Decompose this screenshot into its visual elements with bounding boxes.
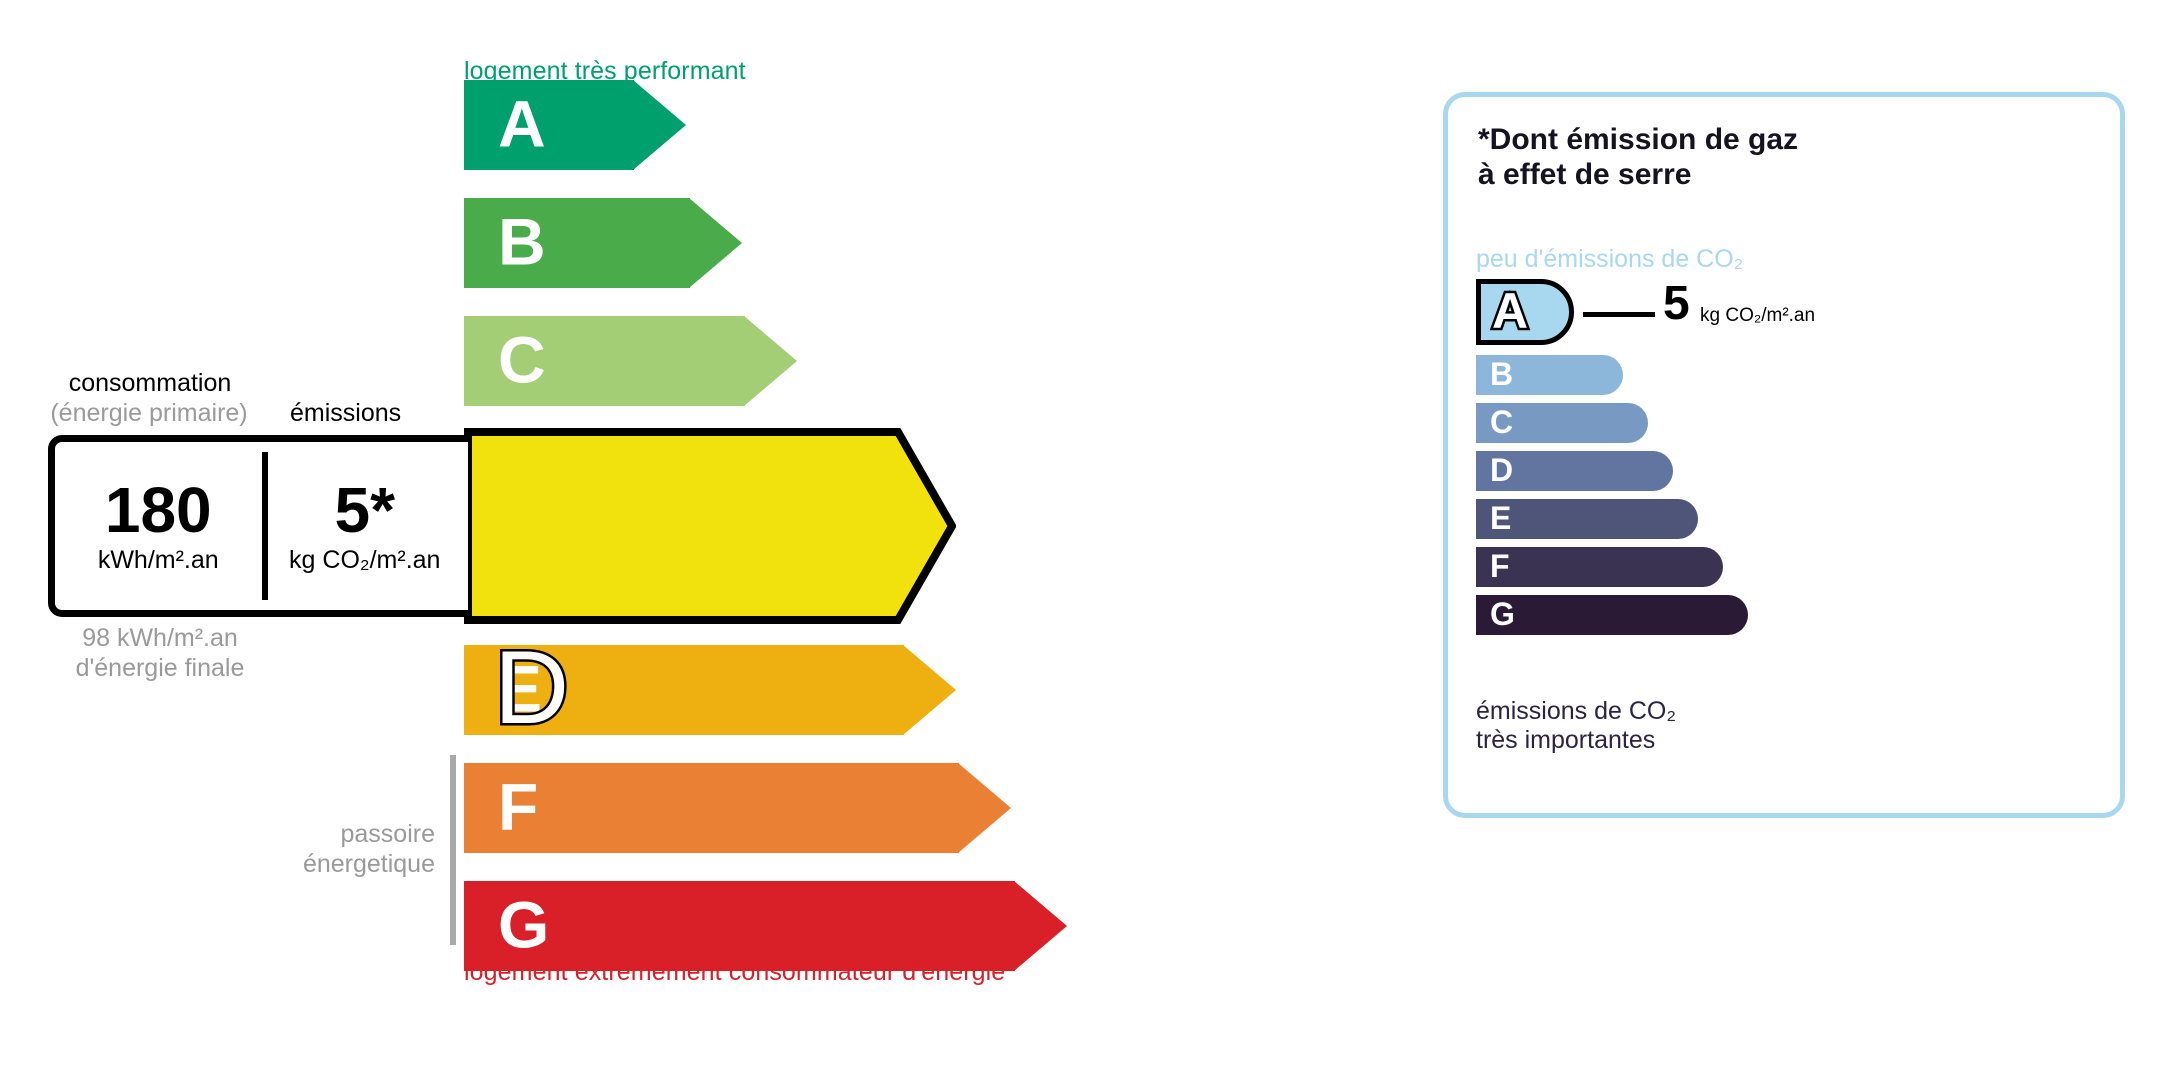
arrow-tip — [1014, 881, 1067, 971]
energy-arrow-c: C — [464, 316, 797, 406]
energy-class-row-f[interactable]: F — [464, 763, 1011, 853]
energy-class-letter: D — [494, 629, 569, 748]
co2-class-row-f[interactable]: F — [1476, 547, 1723, 587]
co2-class-row-g[interactable]: G — [1476, 595, 1748, 635]
scale-caption-bottom: logement extrêmement consommateur d'éner… — [464, 958, 1005, 987]
arrow-tip — [958, 763, 1011, 853]
co2-bar-e: E — [1476, 499, 1698, 539]
energy-class-letter: G — [498, 892, 549, 958]
co2-panel-value-unit: kg CO₂/m².an — [1700, 305, 1815, 327]
co2-leader-line — [1583, 312, 1655, 317]
energy-class-row-b[interactable]: B — [464, 198, 742, 288]
energy-arrow-f: F — [464, 763, 1011, 853]
co2-panel-value: 5 — [1663, 280, 1690, 328]
energy-arrow-a: A — [464, 80, 686, 170]
co2-class-badge-a-current[interactable]: A — [1476, 279, 1574, 345]
energy-value: 180 — [105, 478, 212, 542]
co2-bar-g: G — [1476, 595, 1748, 635]
co2-class-row-d[interactable]: D — [1476, 451, 1673, 491]
co2-class-row-e[interactable]: E — [1476, 499, 1698, 539]
co2-bar-c: C — [1476, 403, 1648, 443]
energy-class-letter: B — [498, 209, 546, 275]
arrow-tip — [744, 316, 797, 406]
energy-class-letter: C — [498, 327, 546, 393]
co2-value: 5* — [335, 478, 396, 542]
energy-class-row-d-current[interactable]: D — [464, 428, 956, 624]
energy-class-letter: A — [498, 91, 546, 157]
co2-class-letter: E — [1490, 502, 1511, 534]
dpe-diagram: logement très performant A B C — [0, 0, 2169, 1079]
label-emissions: émissions — [290, 399, 401, 428]
energy-unit: kWh/m².an — [98, 546, 219, 575]
energy-class-row-c[interactable]: C — [464, 316, 797, 406]
final-energy-note: 98 kWh/m².an d'énergie finale — [45, 624, 275, 683]
co2-class-letter: F — [1490, 550, 1510, 582]
co2-class-row-b[interactable]: B — [1476, 355, 1623, 395]
energy-value-cell: 180 kWh/m².an — [55, 442, 262, 610]
value-box: 180 kWh/m².an 5* kg CO₂/m².an — [48, 435, 468, 617]
energy-arrow-b: B — [464, 198, 742, 288]
co2-panel-title: *Dont émission de gaz à effet de serre — [1478, 122, 1798, 192]
energy-class-letter: F — [498, 774, 538, 840]
co2-unit: kg CO₂/m².an — [289, 546, 440, 575]
passoire-bracket — [450, 755, 456, 945]
co2-bar-f: F — [1476, 547, 1723, 587]
co2-bar-b: B — [1476, 355, 1623, 395]
co2-value-cell: 5* kg CO₂/m².an — [262, 442, 469, 610]
co2-scale-top-label: peu d'émissions de CO₂ — [1476, 245, 1743, 274]
co2-class-letter: C — [1490, 406, 1513, 438]
co2-emissions-panel: *Dont émission de gaz à effet de serre p… — [1443, 92, 2125, 818]
arrow-tip — [689, 198, 742, 288]
co2-bar-d: D — [1476, 451, 1673, 491]
co2-class-row-c[interactable]: C — [1476, 403, 1648, 443]
label-consumption-sub: (énergie primaire) — [40, 399, 258, 428]
co2-class-letter: D — [1490, 454, 1513, 486]
energy-arrow-d — [464, 428, 956, 624]
label-consumption: consommation — [55, 369, 245, 398]
arrow-tip — [903, 645, 956, 735]
arrow-body — [464, 80, 634, 170]
co2-class-letter: G — [1490, 598, 1515, 630]
arrow-tip — [633, 80, 686, 170]
co2-class-letter: B — [1490, 358, 1513, 390]
energy-class-row-a[interactable]: A — [464, 80, 686, 170]
energy-performance-scale: logement très performant A B C — [0, 0, 1400, 1079]
co2-scale-bottom-label: émissions de CO₂ très importantes — [1476, 697, 1676, 756]
co2-class-letter: A — [1476, 286, 1544, 336]
passoire-label: passoire énergetique — [250, 820, 435, 879]
